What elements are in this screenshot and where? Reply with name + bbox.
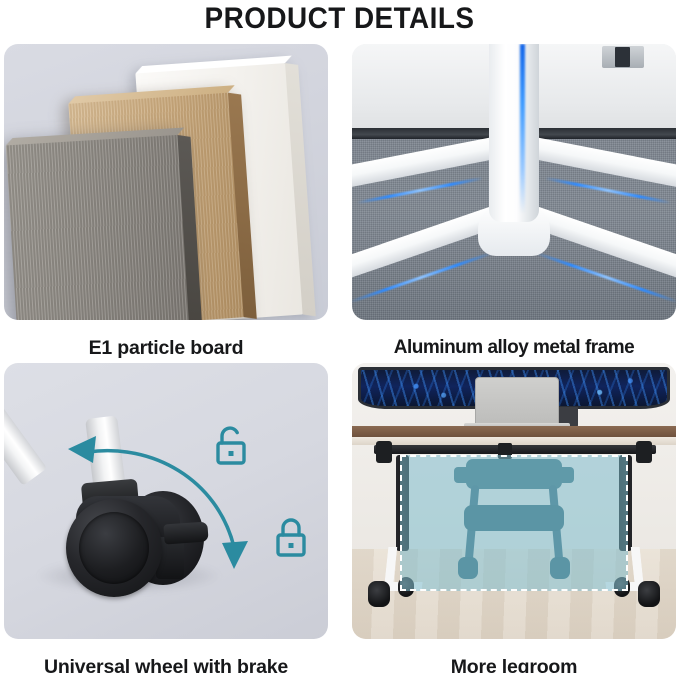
board-gray-face bbox=[6, 135, 190, 320]
under-desk-crossbar bbox=[374, 445, 656, 454]
legroom-highlight-overlay bbox=[400, 455, 628, 591]
product-details-page: PRODUCT DETAILS bbox=[0, 0, 679, 673]
detail-card-more-legroom: More legroom bbox=[352, 363, 676, 673]
detail-card-universal-wheel: Universal wheel with brake bbox=[4, 363, 328, 673]
caption-metal-frame: Aluminum alloy metal frame bbox=[352, 337, 676, 359]
caption-particle-board: E1 particle board bbox=[4, 337, 328, 360]
detail-card-particle-board: E1 particle board bbox=[4, 44, 328, 360]
particle-board-image bbox=[4, 44, 328, 320]
metal-frame-image bbox=[352, 44, 676, 320]
frame-center-column bbox=[489, 44, 539, 222]
more-legroom-image bbox=[352, 363, 676, 639]
frame-bracket-right bbox=[636, 441, 652, 463]
caption-more-legroom: More legroom bbox=[352, 656, 676, 673]
desk-caster-front-right bbox=[638, 581, 660, 607]
frame-bracket bbox=[602, 46, 644, 68]
universal-wheel-image bbox=[4, 363, 328, 639]
glow-accent-column bbox=[520, 44, 525, 214]
frame-bracket-left bbox=[376, 441, 392, 463]
curved-arrow-icon bbox=[62, 419, 282, 609]
lock-indicator-group bbox=[4, 363, 328, 639]
page-title: PRODUCT DETAILS bbox=[24, 2, 655, 36]
desktop-underside bbox=[352, 437, 676, 445]
laptop bbox=[475, 377, 559, 425]
detail-card-metal-frame: Aluminum alloy metal frame bbox=[352, 44, 676, 359]
caption-universal-wheel: Universal wheel with brake bbox=[4, 656, 328, 673]
details-grid: E1 particle board Aluminum bbox=[4, 44, 676, 669]
desk-caster-front-left bbox=[368, 581, 390, 607]
board-gray bbox=[6, 135, 190, 320]
